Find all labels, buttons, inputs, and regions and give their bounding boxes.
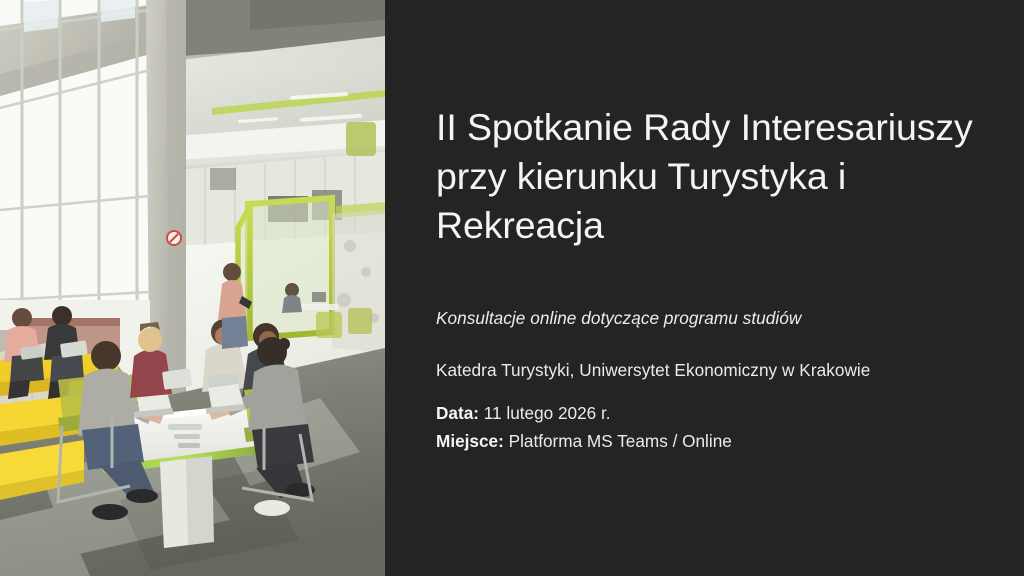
presentation-slide: II Spotkanie Rady Interesariuszy przy ki… (0, 0, 1024, 576)
slide-details: Data: 11 lutego 2026 r. Miejsce: Platfor… (436, 400, 1006, 456)
slide-text-panel: II Spotkanie Rady Interesariuszy przy ki… (385, 0, 1024, 576)
detail-row-place: Miejsce: Platforma MS Teams / Online (436, 428, 1006, 456)
atrium-photo (0, 0, 385, 576)
detail-label-date: Data: (436, 403, 479, 423)
detail-value-place: Platforma MS Teams / Online (509, 431, 732, 451)
slide-affiliation: Katedra Turystyki, Uniwersytet Ekonomicz… (436, 360, 1006, 381)
detail-row-date: Data: 11 lutego 2026 r. (436, 400, 1006, 428)
detail-label-place: Miejsce: (436, 431, 504, 451)
slide-subtitle: Konsultacje online dotyczące programu st… (436, 308, 996, 329)
slide-title: II Spotkanie Rady Interesariuszy przy ki… (436, 103, 976, 249)
detail-value-date: 11 lutego 2026 r. (484, 403, 611, 423)
